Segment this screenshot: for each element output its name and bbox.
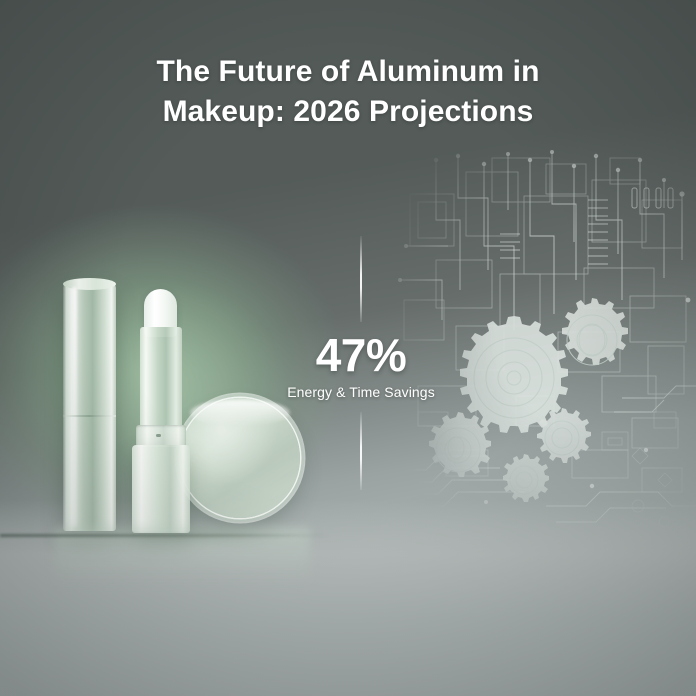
page-title-line-2: Makeup: 2026 Projections [0,92,696,132]
page-title-line-1: The Future of Aluminum in [0,52,696,92]
stat-highlight-block: 47% Energy & Time Savings [241,236,481,490]
divider-line-top [360,236,362,322]
divider-line-bottom [360,412,362,490]
poster-canvas: The Future of Aluminum in Makeup: 2026 P… [0,0,696,696]
stat-value: 47% [241,328,481,382]
stat-label: Energy & Time Savings [241,382,481,402]
page-title: The Future of Aluminum in Makeup: 2026 P… [0,52,696,132]
